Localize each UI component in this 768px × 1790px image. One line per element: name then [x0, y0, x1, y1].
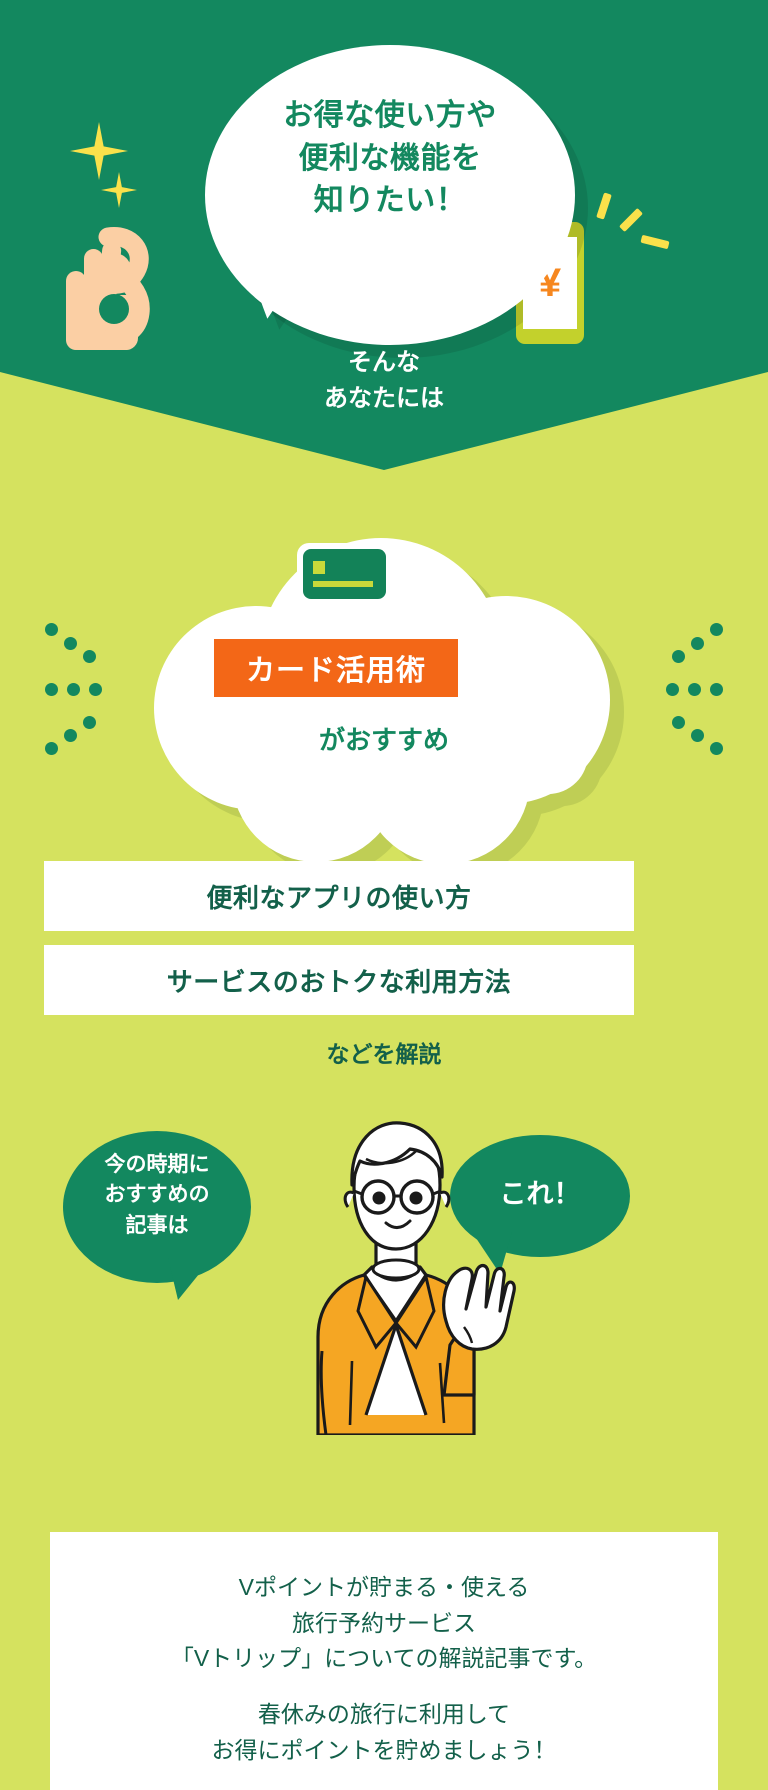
- topic-item-label: サービスのおトクな利用方法: [167, 962, 512, 999]
- recommendation-badge: カード活用術: [214, 639, 458, 697]
- person-presenting-icon: [260, 1115, 530, 1435]
- decorative-dot: [64, 637, 77, 650]
- transition-text: そんな あなたには: [0, 345, 768, 417]
- decorative-dot: [67, 683, 80, 696]
- decorative-dot: [45, 623, 58, 636]
- summary-line: Vポイントが貯まる・使える: [50, 1570, 718, 1606]
- hero-bubble-text: お得な使い方や 便利な機能を 知りたい！: [205, 95, 575, 223]
- promo-infographic: ¥ お得な使い方や 便利な機能を 知りたい！ そんな あなたには: [0, 0, 768, 1790]
- decorative-dot: [688, 683, 701, 696]
- character-bubble-left-text: 今の時期に おすすめの 記事は: [63, 1150, 251, 1241]
- decorative-dot: [710, 683, 723, 696]
- summary-spacer: [50, 1677, 718, 1697]
- credit-card-chip: [313, 561, 325, 574]
- summary-line: 春休みの旅行に利用して: [50, 1697, 718, 1733]
- summary-line: 旅行予約サービス: [50, 1606, 718, 1642]
- decorative-dot: [710, 623, 723, 636]
- topic-item[interactable]: 便利なアプリの使い方: [44, 861, 634, 931]
- decorative-dot: [89, 683, 102, 696]
- topic-item[interactable]: サービスのおトクな利用方法: [44, 945, 634, 1015]
- hero-bubble-line: お得な使い方や: [205, 95, 575, 138]
- recommendation-suffix: がおすすめ: [0, 720, 768, 757]
- article-summary-text: Vポイントが貯まる・使える 旅行予約サービス 「Vトリップ」についての解説記事で…: [50, 1570, 718, 1768]
- decorative-dot: [691, 637, 704, 650]
- recommendation-badge-label: カード活用術: [246, 647, 426, 689]
- summary-line: 「Vトリップ」についての解説記事です。: [50, 1641, 718, 1677]
- transition-line: あなたには: [0, 381, 768, 417]
- decorative-dot: [672, 650, 685, 663]
- hero-bubble-line: 便利な機能を: [205, 138, 575, 181]
- hero-bubble-line: 知りたい！: [205, 180, 575, 223]
- bubble-left-line: 記事は: [63, 1211, 251, 1241]
- bubble-left-line: 今の時期に: [63, 1150, 251, 1180]
- decorative-dot: [83, 650, 96, 663]
- credit-card-stripe: [313, 581, 373, 587]
- decorative-dot: [666, 683, 679, 696]
- character-bubble-left-tail: [168, 1258, 212, 1300]
- bubble-left-line: おすすめの: [63, 1180, 251, 1210]
- topics-footer-label: などを解説: [0, 1035, 768, 1069]
- topic-item-label: 便利なアプリの使い方: [206, 878, 471, 915]
- credit-card-icon: [303, 549, 386, 599]
- transition-line: そんな: [0, 345, 768, 381]
- decorative-dot: [45, 683, 58, 696]
- summary-line: お得にポイントを貯めましょう！: [50, 1733, 718, 1769]
